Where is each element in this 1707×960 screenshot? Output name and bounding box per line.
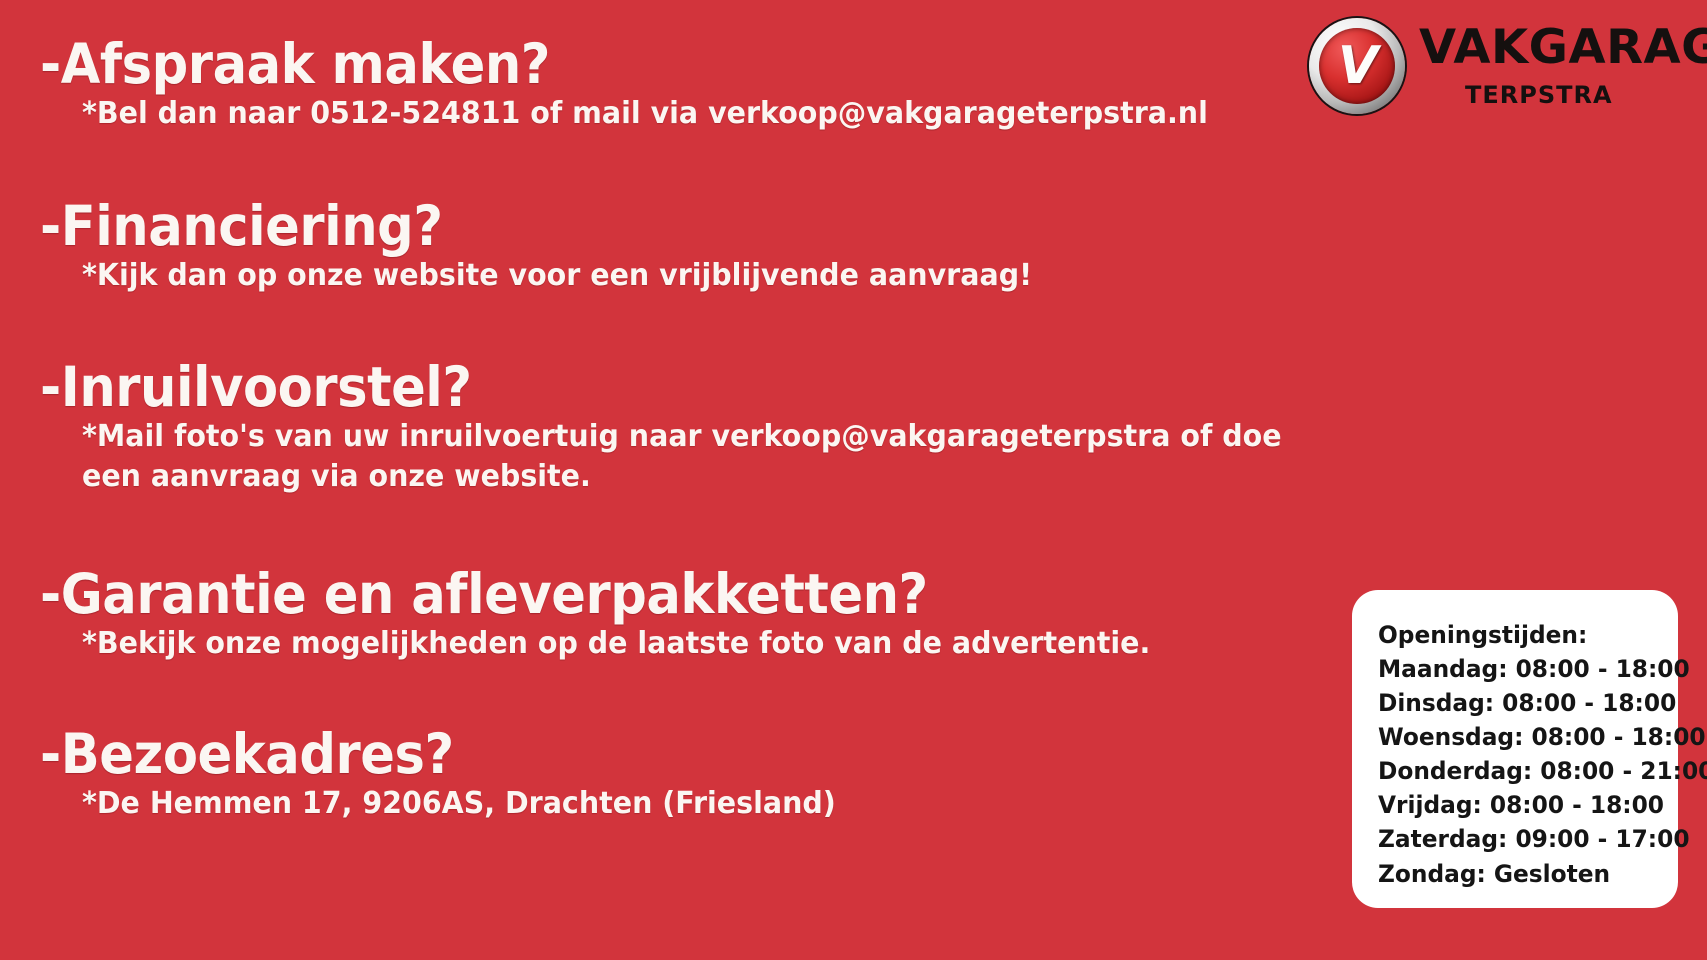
opening-hours-row: Dinsdag: 08:00 - 18:00: [1378, 686, 1669, 720]
section-inruilvoorstel: -Inruilvoorstel? *Mail foto's van uw inr…: [40, 359, 1345, 498]
section-financiering: -Financiering? *Kijk dan op onze website…: [40, 198, 1082, 296]
section-heading: -Bezoekadres?: [40, 726, 817, 784]
logo-dealer-name: Terpstra: [1465, 75, 1707, 109]
opening-hours-row: Zondag: Gesloten: [1378, 857, 1669, 891]
logo-brand-name: VAKGARAGE: [1419, 24, 1707, 71]
opening-hours-row: Zaterdag: 09:00 - 17:00: [1378, 822, 1669, 856]
section-afspraak: -Afspraak maken? *Bel dan naar 0512-5248…: [40, 36, 1267, 134]
promo-banner: V VAKGARAGE Terpstra -Afspraak maken? *B…: [0, 0, 1707, 960]
vakgarage-v-badge-icon: V: [1309, 18, 1405, 114]
section-garantie: -Garantie en afleverpakketten? *Bekijk o…: [40, 566, 1207, 664]
vakgarage-logo: V VAKGARAGE Terpstra: [1309, 16, 1699, 116]
section-heading: -Afspraak maken?: [40, 36, 1181, 94]
section-bezoekadres: -Bezoekadres? *De Hemmen 17, 9206AS, Dra…: [40, 726, 875, 824]
section-heading: -Financiering?: [40, 198, 1009, 256]
opening-hours-card: Openingstijden: Maandag: 08:00 - 18:00 D…: [1352, 590, 1678, 908]
section-detail-line: *Bel dan naar 0512-524811 of mail via ve…: [82, 94, 1208, 135]
section-heading: -Garantie en afleverpakketten?: [40, 566, 1125, 624]
section-detail-line: *Mail foto's van uw inruilvoertuig naar …: [82, 417, 1282, 458]
opening-hours-row: Woensdag: 08:00 - 18:00: [1378, 720, 1669, 754]
opening-hours-row: Donderdag: 08:00 - 21:00: [1378, 754, 1669, 788]
section-detail-line: een aanvraag via onze website.: [82, 457, 1282, 498]
section-heading: -Inruilvoorstel?: [40, 359, 1253, 417]
section-detail-line: *Kijk dan op onze website voor een vrijb…: [82, 256, 1032, 297]
logo-wordmark: VAKGARAGE Terpstra: [1419, 24, 1707, 109]
section-detail-line: *De Hemmen 17, 9206AS, Drachten (Friesla…: [82, 784, 836, 825]
opening-hours-row: Maandag: 08:00 - 18:00: [1378, 652, 1669, 686]
logo-letter-v: V: [1309, 18, 1405, 114]
section-detail-line: *Bekijk onze mogelijkheden op de laatste…: [82, 624, 1150, 665]
opening-hours-row: Vrijdag: 08:00 - 18:00: [1378, 788, 1669, 822]
opening-hours-title: Openingstijden:: [1378, 618, 1669, 652]
